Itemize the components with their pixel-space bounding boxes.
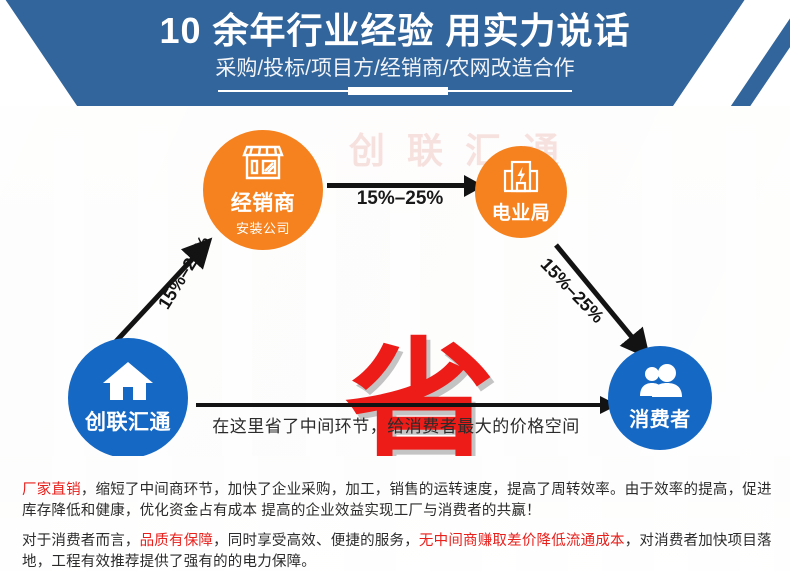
shop-icon (239, 143, 287, 183)
big-savings-character: 省 (340, 336, 500, 456)
footer-p2-highlight2: 无中间商赚取差价降低流通成本 (419, 533, 625, 549)
node-dealer-sublabel: 安装公司 (236, 218, 290, 237)
background-watermark: 创联汇通 (300, 122, 630, 174)
node-power-bureau[interactable]: 电业局 (475, 146, 567, 238)
arrow-label-top: 15%–25% (340, 188, 460, 210)
node-consumer-label: 消费者 (629, 403, 691, 432)
node-dealer[interactable]: 经销商 安装公司 (203, 130, 323, 250)
home-icon (102, 360, 154, 402)
node-consumer[interactable]: 消费者 (608, 346, 712, 450)
node-dealer-label: 经销商 (231, 187, 296, 217)
footer-p2-highlight1: 品质有保障 (140, 533, 214, 549)
footer-paragraph-1: 厂家直销，缩短了中间商环节，加快了企业采购，加工，销售的运转速度，提高了周转效率… (22, 480, 774, 522)
users-icon (636, 364, 684, 400)
footer-p2-part2: ，同时享受高效、便捷的服务， (213, 533, 419, 549)
header-divider-center-block (348, 87, 448, 95)
arrow-company-to-consumer-line (196, 403, 606, 407)
footer-description: 厂家直销，缩短了中间商环节，加快了企业采购，加工，销售的运转速度，提高了周转效率… (0, 456, 790, 571)
node-company[interactable]: 创联汇通 (68, 338, 188, 456)
promo-banner-page: 10 余年行业经验 用实力说话 采购/投标/项目方/经销商/农网改造合作 创联汇… (0, 0, 790, 571)
arrow-label-bottom: 在这里省了中间环节，给消费者最大的价格空间 (196, 412, 596, 437)
node-company-label: 创联汇通 (85, 406, 171, 436)
footer-paragraph-2: 对于消费者而言，品质有保障，同时享受高效、便捷的服务，无中间商赚取差价降低流通成… (22, 531, 774, 571)
power-building-icon (501, 159, 541, 195)
node-power-bureau-label: 电业局 (492, 198, 551, 225)
footer-p2-part1: 对于消费者而言， (22, 533, 140, 549)
header-subtitle: 采购/投标/项目方/经销商/农网改造合作 (0, 56, 790, 82)
banner-header: 10 余年行业经验 用实力说话 采购/投标/项目方/经销商/农网改造合作 (0, 0, 790, 106)
flow-diagram: 创联汇通 省 15%–25% 15%–25% 15%–25% 在这里省了中间环节… (0, 106, 790, 456)
footer-p1-highlight: 厂家直销 (22, 482, 81, 498)
header-title: 10 余年行业经验 用实力说话 (0, 10, 790, 52)
footer-p1-rest: ，缩短了中间商环节，加快了企业采购，加工，销售的运转速度，提高了周转效率。由于效… (22, 482, 772, 519)
